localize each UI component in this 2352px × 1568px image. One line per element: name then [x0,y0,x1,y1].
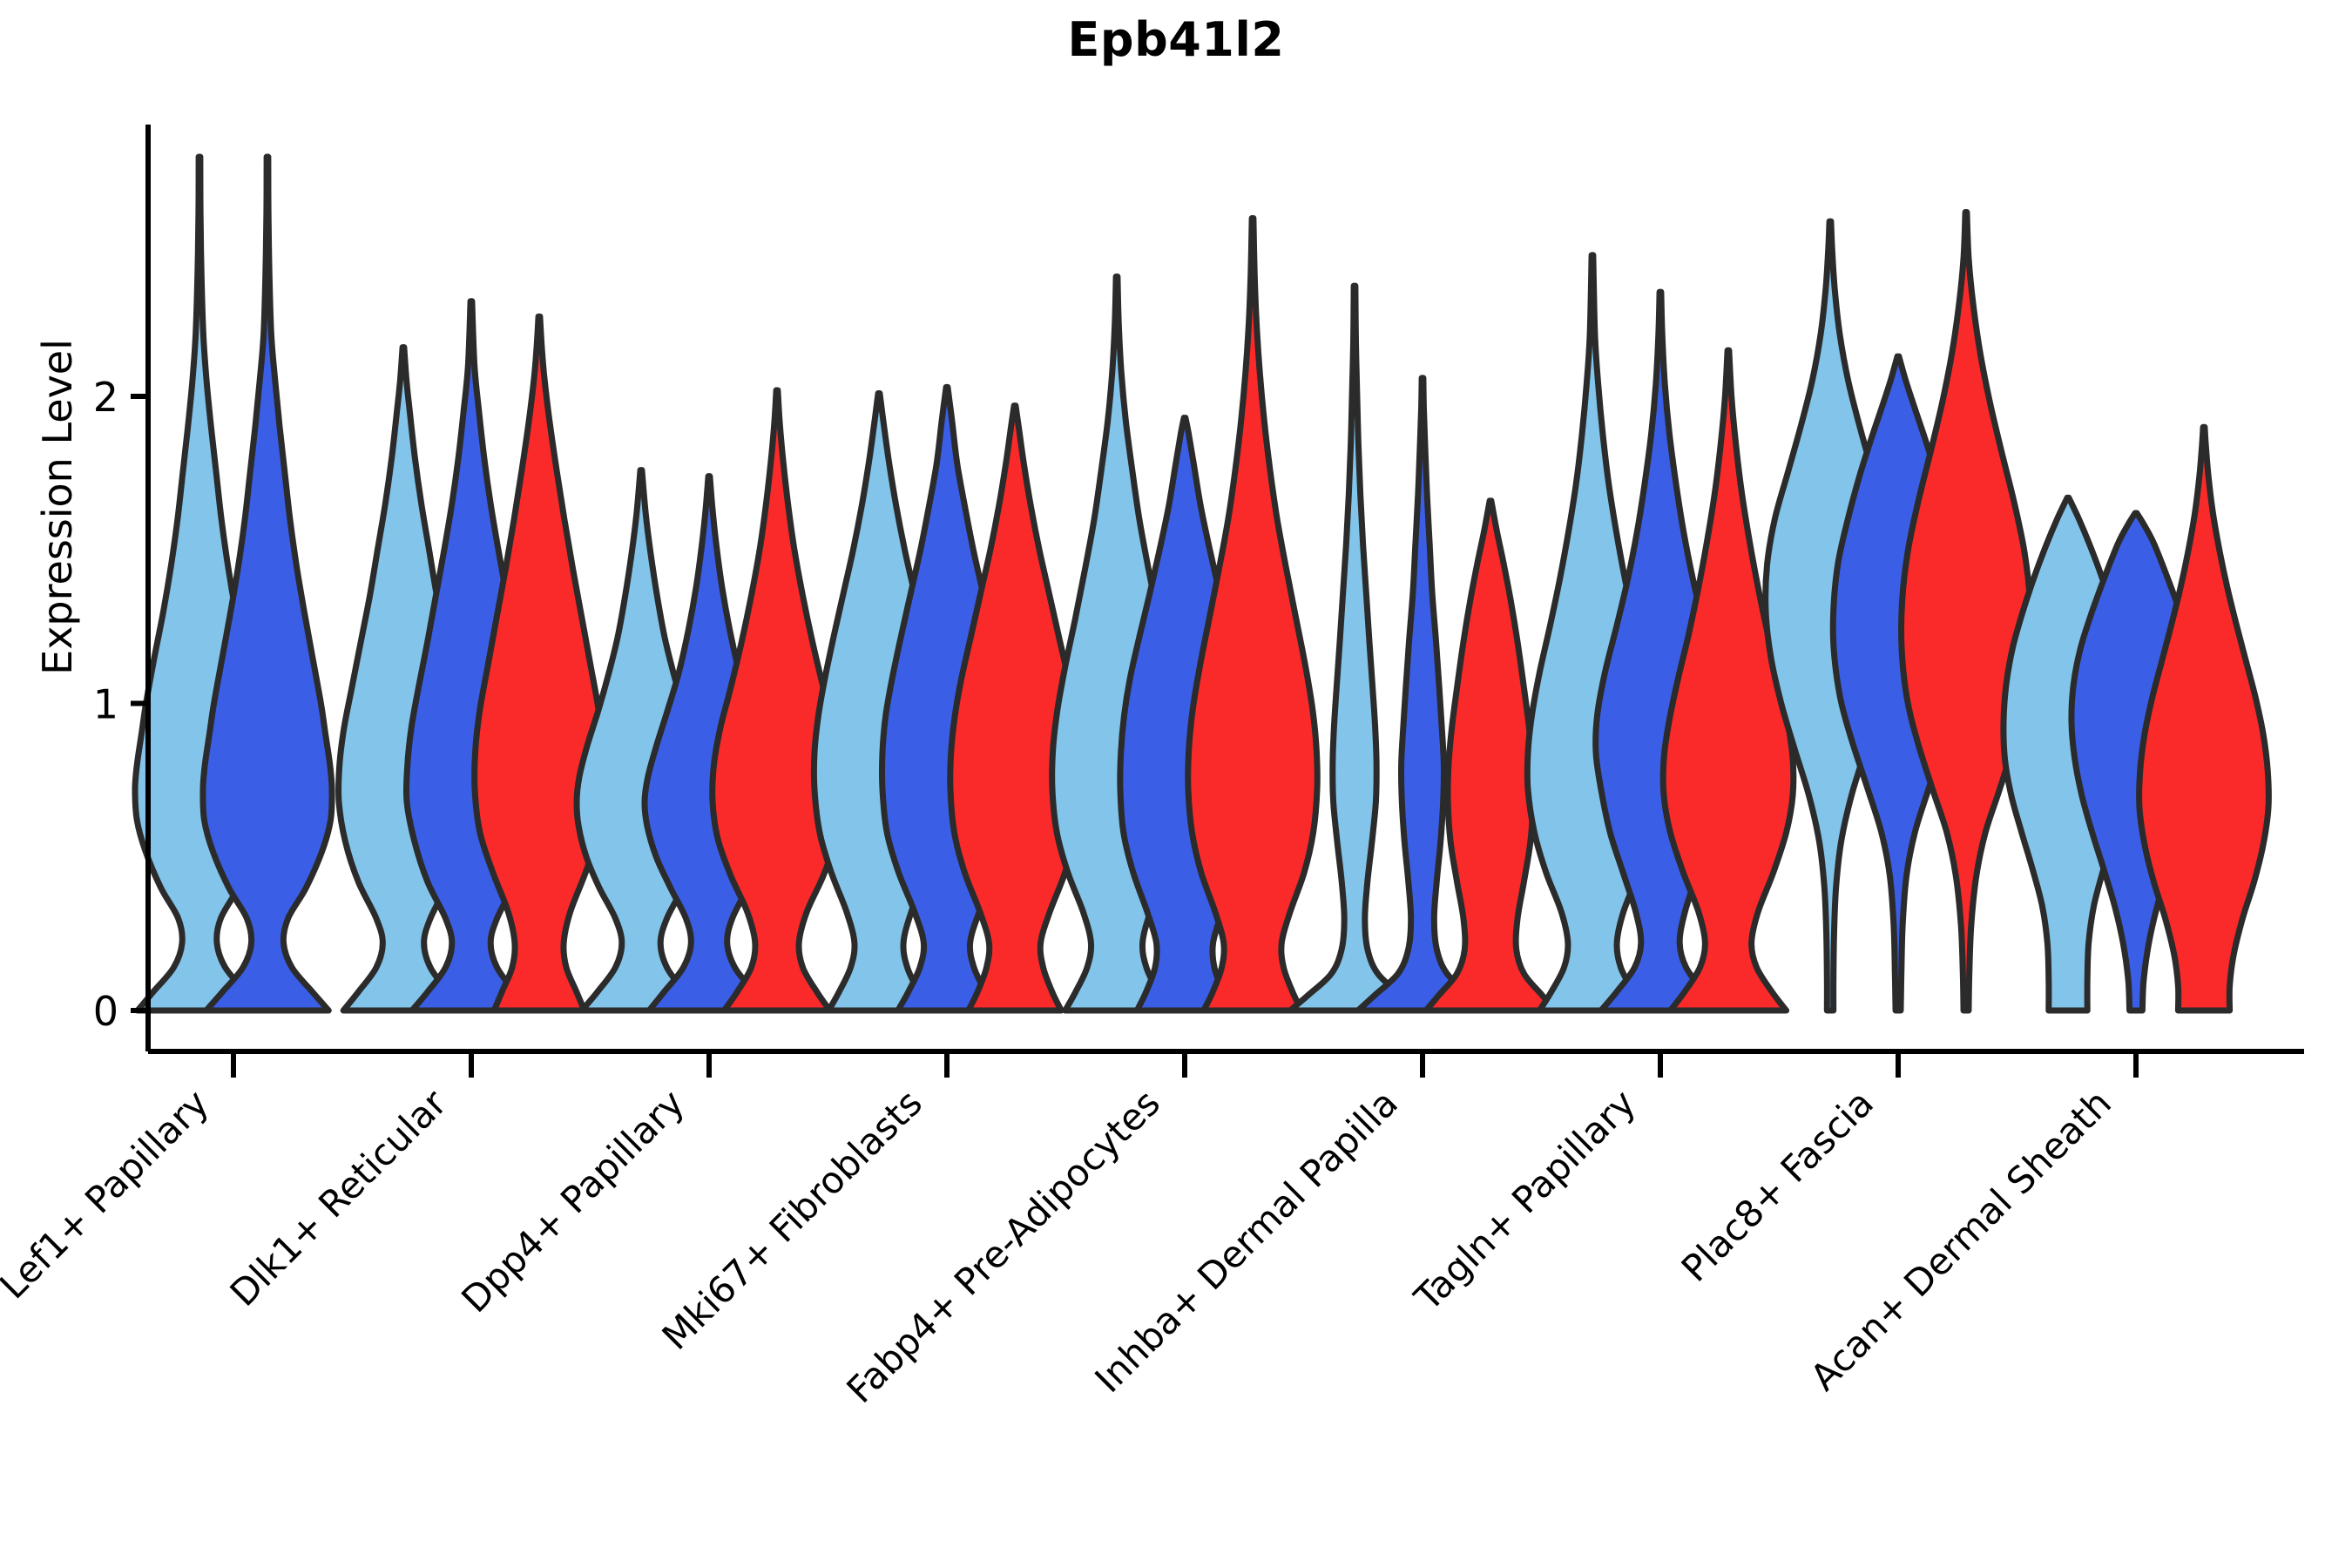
x-tick-label-3: Dpp4+ Papillary [453,1081,693,1321]
x-tick-label-2: Dlk1+ Reticular [222,1081,456,1315]
violin-plot-figure: Epb41l2 Expression Level 012 Lef1+ Papil… [0,0,2352,1568]
x-tick-labels: Lef1+ PapillaryDlk1+ ReticularDpp4+ Papi… [0,1081,2119,1411]
violin-9-red [2139,427,2269,1010]
y-tick-label-2: 2 [93,374,118,421]
y-tick-label-0: 0 [93,988,118,1035]
y-tick-label-1: 1 [93,681,118,728]
violin-chart-canvas: 012 Lef1+ PapillaryDlk1+ ReticularDpp4+ … [0,0,2352,1568]
x-tick-label-8: Plac8+ Fascia [1673,1081,1882,1289]
x-tick-label-7: Tagln+ Papillary [1406,1081,1644,1319]
violin-5-red [1188,219,1318,1010]
y-tick-labels: 012 [93,374,118,1035]
violin-6-light-blue [1290,286,1419,1010]
violin-8-red [1902,213,2031,1011]
x-tick-label-4: Mki67+ Fibroblasts [654,1081,930,1357]
violins-layer [135,157,2268,1010]
x-tick-label-1: Lef1+ Papillary [0,1081,217,1307]
